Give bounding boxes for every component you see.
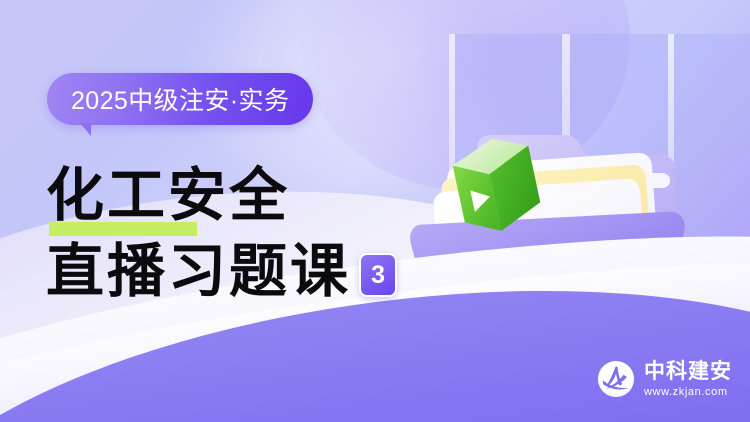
headline-row-1: 化工安全 — [46, 152, 466, 228]
course-tag-label: 2025中级注安·实务 — [71, 81, 289, 117]
brand-name: 中科建安 — [644, 361, 732, 382]
zkjan-logo-icon — [597, 360, 635, 398]
brand-url: www.zkjan.com — [644, 387, 732, 398]
headline-row-2: 直播习题课 3 — [46, 228, 466, 304]
brand-logo[interactable]: 中科建安 www.zkjan.com — [597, 360, 732, 398]
brand-logo-text: 中科建安 www.zkjan.com — [644, 361, 732, 398]
course-banner: 2025中级注安·实务 化工安全 直播习题课 3 中科建安 www.zkjan.… — [0, 0, 750, 422]
headline-line-1: 化工安全 — [46, 162, 290, 228]
episode-number-chip: 3 — [359, 253, 397, 297]
headline-line-2: 直播习题课 — [46, 238, 351, 304]
headline-block: 化工安全 直播习题课 3 — [46, 152, 466, 304]
course-tag-badge: 2025中级注安·实务 — [47, 73, 313, 125]
